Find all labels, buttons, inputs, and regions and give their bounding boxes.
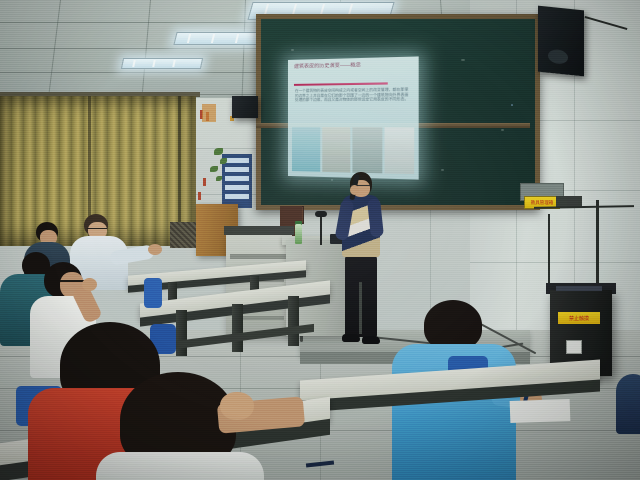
- waste-basket: [170, 222, 196, 248]
- paper-sheet: [510, 399, 571, 423]
- student-hand: [220, 392, 254, 420]
- presenter-arm: [367, 198, 384, 237]
- slide-photo: [352, 127, 381, 173]
- chair-blue: [144, 278, 162, 308]
- microphone-stand: [320, 215, 322, 245]
- amplifier-sticker: [566, 340, 582, 354]
- desk-leg: [288, 296, 299, 346]
- amplifier-label: 禁止触摸: [558, 312, 600, 324]
- student-hand: [148, 244, 162, 255]
- student-hand: [82, 278, 97, 291]
- student-head: [424, 300, 482, 350]
- slide-body-text: 在一个建筑物的表皮空间构成之内或者空间上的改变管理，都在那里的边界之上并且是在它…: [295, 87, 411, 123]
- ceiling-light: [121, 58, 203, 69]
- wall-loudspeaker: [538, 6, 584, 77]
- classroom-photo: 建筑表皮的历史演变——概念 在一个建筑物的表皮空间构成之内或者空间上的改变管理，…: [0, 0, 640, 480]
- student-white-shirt-front: [96, 452, 264, 480]
- slide-title: 建筑表皮的历史演变——概念: [294, 61, 412, 71]
- presenter-shoe: [362, 336, 380, 344]
- microphone-head: [315, 211, 327, 217]
- student-glasses: [87, 228, 107, 233]
- projected-slide: 建筑表皮的历史演变——概念 在一个建筑物的表皮空间构成之内或者空间上的改变管理，…: [288, 56, 419, 179]
- presenter-leg-gap: [359, 282, 362, 334]
- slide-photo: [384, 127, 414, 174]
- slide-photo-strip: [292, 127, 414, 174]
- slide-photo: [322, 127, 351, 172]
- desk-leg: [176, 310, 187, 356]
- presenter-shoe: [342, 334, 360, 342]
- presenter-hand: [350, 185, 359, 195]
- student-navy-back-row: [616, 374, 640, 434]
- slide-accent-rule: [294, 82, 388, 86]
- wall-decoration: [196, 104, 258, 208]
- amplifier-panel: [556, 286, 602, 291]
- water-bottle: [295, 224, 302, 244]
- desk-leg: [232, 304, 243, 352]
- copier-lid: [224, 226, 294, 235]
- presenter: [336, 172, 386, 352]
- slide-photo: [292, 127, 320, 172]
- ceiling-speaker: [232, 96, 258, 118]
